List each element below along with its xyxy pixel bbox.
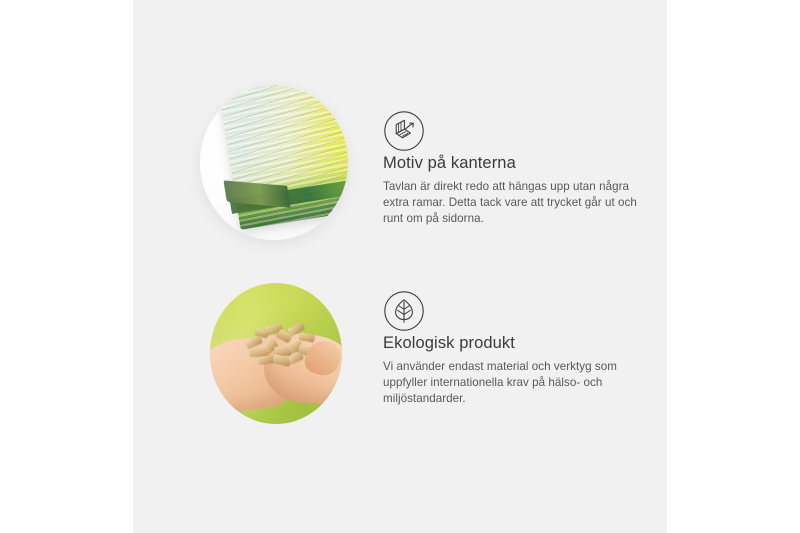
canvas-print-image xyxy=(200,85,348,240)
canvas-image-clip xyxy=(200,85,348,240)
feature-block-motiv-pa-kanterna: Motiv på kanterna Tavlan är direkt redo … xyxy=(133,0,667,266)
wood-chips-photo xyxy=(210,283,342,424)
feature-text-block: Motiv på kanterna Tavlan är direkt redo … xyxy=(383,152,651,228)
feature-text-block: Ekologisk produkt Vi använder endast mat… xyxy=(383,332,651,408)
product-feature-banner: Motiv på kanterna Tavlan är direkt redo … xyxy=(0,0,800,533)
feature-description: Tavlan är direkt redo att hängas upp uta… xyxy=(383,179,651,228)
feature-description: Vi använder endast material och verktyg … xyxy=(383,359,651,408)
feature-title: Ekologisk produkt xyxy=(383,332,651,354)
feature-title: Motiv på kanterna xyxy=(383,152,651,174)
leaf-icon xyxy=(383,290,425,332)
feature-block-ekologisk-produkt: Ekologisk produkt Vi använder endast mat… xyxy=(133,266,667,533)
canvas-wrapped-edges-icon xyxy=(383,110,425,152)
